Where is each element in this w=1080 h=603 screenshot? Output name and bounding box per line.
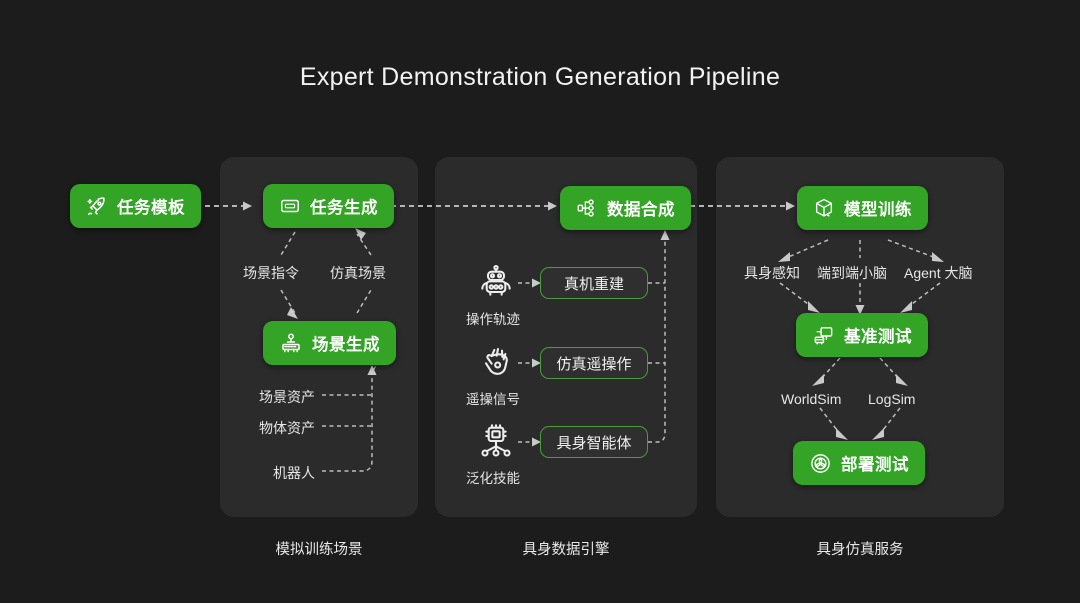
input-label-scene-assets: 场景资产 <box>259 387 315 407</box>
caption-panel-1: 模拟训练场景 <box>220 538 418 559</box>
rocket-icon <box>86 195 108 217</box>
caption-panel-3: 具身仿真服务 <box>716 538 1004 559</box>
node-label: 数据合成 <box>607 196 675 220</box>
data-synthesis-icon <box>576 197 598 219</box>
branch-label-end-to-end-cerebellum: 端到端小脑 <box>817 263 887 283</box>
box-label: 具身智能体 <box>556 432 631 453</box>
sim-label-worldsim: WorldSim <box>781 391 841 407</box>
node-deployment-test[interactable]: 部署测试 <box>793 441 925 485</box>
node-label: 场景生成 <box>312 331 380 355</box>
cube-loop-icon <box>813 197 835 219</box>
gear-globe-icon <box>809 452 832 475</box>
box-label: 真机重建 <box>564 273 624 294</box>
node-label: 模型训练 <box>844 196 912 220</box>
source-label-teleoperation-signal: 遥操信号 <box>466 388 520 408</box>
node-label: 任务生成 <box>310 194 378 218</box>
sim-label-logsim: LogSim <box>868 391 915 407</box>
box-simulated-teleoperation[interactable]: 仿真遥操作 <box>540 347 648 379</box>
edge-label-simulation-scene: 仿真场景 <box>330 263 386 283</box>
box-embodied-agent[interactable]: 具身智能体 <box>540 426 648 458</box>
node-label: 任务模板 <box>117 194 185 218</box>
pipeline-diagram: Expert Demonstration Generation Pipeline <box>0 0 1080 603</box>
robot-icon <box>476 262 516 307</box>
caption-panel-2: 具身数据引擎 <box>435 538 697 559</box>
source-label-generalization-skill: 泛化技能 <box>466 467 520 487</box>
node-task-generation[interactable]: 任务生成 <box>263 184 394 228</box>
hand-glove-icon <box>476 343 516 388</box>
page-title: Expert Demonstration Generation Pipeline <box>0 63 1080 92</box>
box-label: 仿真遥操作 <box>556 353 631 374</box>
robot-scene-icon <box>279 331 303 355</box>
source-label-operation-trajectory: 操作轨迹 <box>466 308 520 328</box>
node-scene-generation[interactable]: 场景生成 <box>263 321 396 365</box>
monitor-bench-icon <box>812 324 835 347</box>
edge-label-scene-instruction: 场景指令 <box>243 263 299 283</box>
node-model-training[interactable]: 模型训练 <box>797 186 928 230</box>
node-task-template[interactable]: 任务模板 <box>70 184 201 228</box>
node-label: 基准测试 <box>844 323 912 347</box>
branch-label-embodied-perception: 具身感知 <box>744 263 800 283</box>
box-real-machine-reconstruction[interactable]: 真机重建 <box>540 267 648 299</box>
node-data-synthesis[interactable]: 数据合成 <box>560 186 691 230</box>
input-label-object-assets: 物体资产 <box>259 418 315 438</box>
template-frame-icon <box>279 195 301 217</box>
branch-label-agent-brain: Agent 大脑 <box>904 263 972 283</box>
chip-network-icon <box>476 422 516 467</box>
node-benchmark-test[interactable]: 基准测试 <box>796 313 928 357</box>
input-label-robot: 机器人 <box>273 463 315 483</box>
node-label: 部署测试 <box>841 451 909 475</box>
